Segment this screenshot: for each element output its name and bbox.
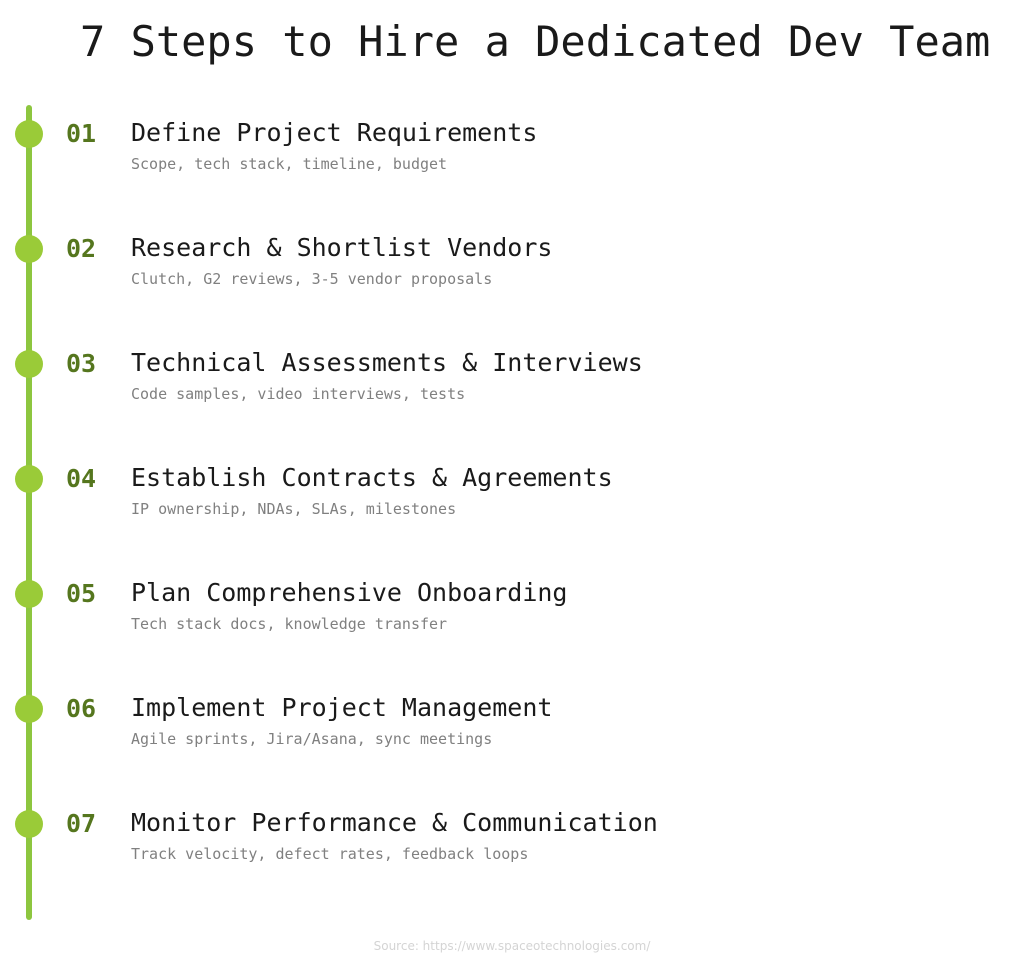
step-subtitle: IP ownership, NDAs, SLAs, milestones: [131, 498, 456, 520]
step-number: 01: [66, 119, 96, 149]
timeline-step: 01Define Project RequirementsScope, tech…: [0, 119, 1024, 199]
timeline-step: 02Research & Shortlist VendorsClutch, G2…: [0, 234, 1024, 314]
timeline-step: 07Monitor Performance & CommunicationTra…: [0, 809, 1024, 889]
timeline-step: 03Technical Assessments & InterviewsCode…: [0, 349, 1024, 429]
step-subtitle: Agile sprints, Jira/Asana, sync meetings: [131, 728, 492, 750]
step-number: 05: [66, 579, 96, 609]
step-number: 04: [66, 464, 96, 494]
timeline-step: 05Plan Comprehensive OnboardingTech stac…: [0, 579, 1024, 659]
step-number: 03: [66, 349, 96, 379]
step-title: Establish Contracts & Agreements: [131, 462, 613, 494]
timeline-step: 04Establish Contracts & AgreementsIP own…: [0, 464, 1024, 544]
step-subtitle: Track velocity, defect rates, feedback l…: [131, 843, 528, 865]
timeline-dot-icon: [15, 580, 43, 608]
timeline-dot-icon: [15, 810, 43, 838]
step-subtitle: Tech stack docs, knowledge transfer: [131, 613, 447, 635]
step-subtitle: Scope, tech stack, timeline, budget: [131, 153, 447, 175]
timeline-dot-icon: [15, 120, 43, 148]
step-number: 02: [66, 234, 96, 264]
page-title: 7 Steps to Hire a Dedicated Dev Team: [80, 14, 990, 70]
source-attribution: Source: https://www.spaceotechnologies.c…: [0, 938, 1024, 954]
timeline-step: 06Implement Project ManagementAgile spri…: [0, 694, 1024, 774]
step-number: 07: [66, 809, 96, 839]
step-number: 06: [66, 694, 96, 724]
step-title: Research & Shortlist Vendors: [131, 232, 552, 264]
step-title: Monitor Performance & Communication: [131, 807, 658, 839]
step-title: Define Project Requirements: [131, 117, 537, 149]
timeline-dot-icon: [15, 695, 43, 723]
step-title: Technical Assessments & Interviews: [131, 347, 643, 379]
step-title: Plan Comprehensive Onboarding: [131, 577, 568, 609]
timeline-dot-icon: [15, 465, 43, 493]
step-title: Implement Project Management: [131, 692, 552, 724]
timeline-dot-icon: [15, 350, 43, 378]
timeline-dot-icon: [15, 235, 43, 263]
step-subtitle: Clutch, G2 reviews, 3-5 vendor proposals: [131, 268, 492, 290]
step-subtitle: Code samples, video interviews, tests: [131, 383, 465, 405]
infographic-canvas: 7 Steps to Hire a Dedicated Dev Team 01D…: [0, 0, 1024, 980]
